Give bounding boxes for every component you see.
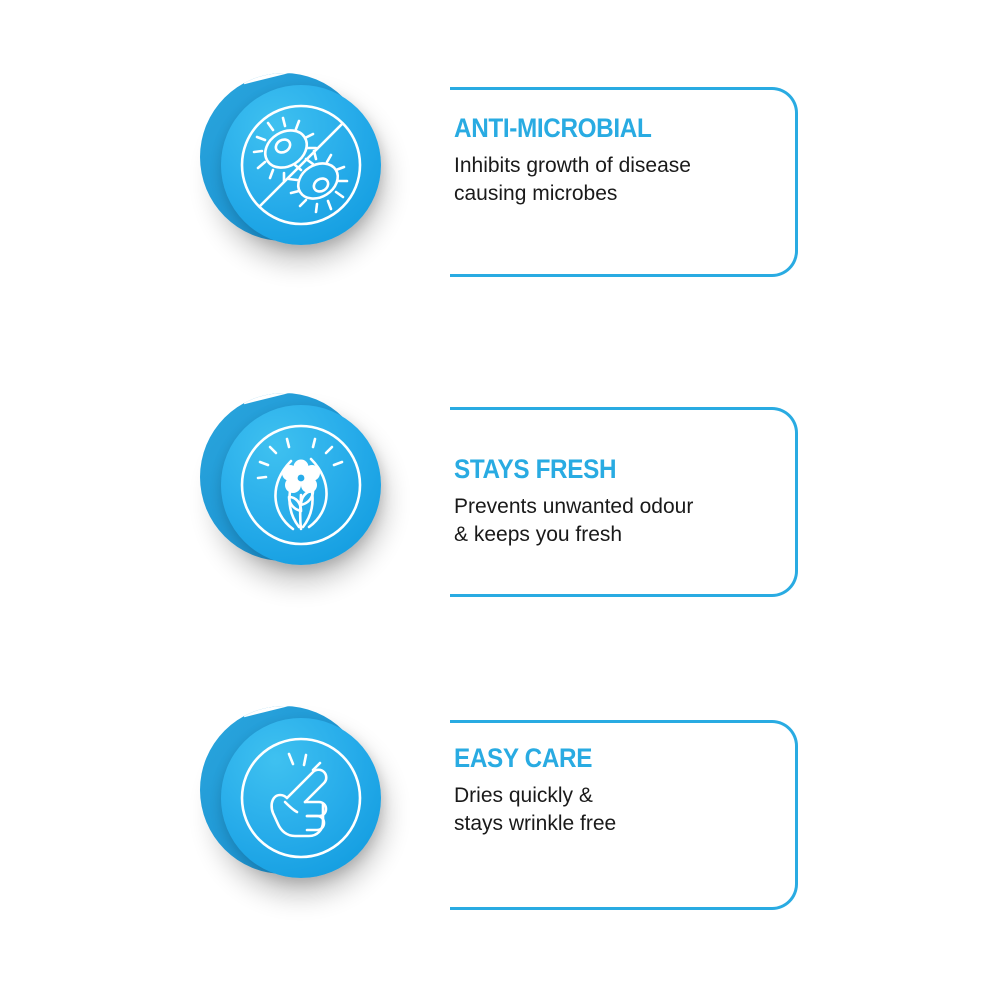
feature-title: ANTI-MICROBIAL <box>454 115 751 142</box>
feature-list: ANTI-MICROBIAL Inhibits growth of diseas… <box>0 0 1000 1000</box>
feature-badge <box>196 67 396 267</box>
badge-front-disc <box>221 85 381 245</box>
feature-description: Prevents unwanted odour & keeps you fres… <box>454 493 784 548</box>
feature-row: EASY CARE Dries quickly & stays wrinkle … <box>0 690 1000 940</box>
feature-row: STAYS FRESH Prevents unwanted odour & ke… <box>0 377 1000 627</box>
badge-front-disc <box>221 718 381 878</box>
feature-description: Inhibits growth of disease causing micro… <box>454 152 784 207</box>
feature-card-body: EASY CARE Dries quickly & stays wrinkle … <box>452 723 784 929</box>
feature-card-body: ANTI-MICROBIAL Inhibits growth of diseas… <box>452 90 784 299</box>
feature-card: ANTI-MICROBIAL Inhibits growth of diseas… <box>450 87 798 277</box>
badge-front-disc <box>221 405 381 565</box>
feature-card: EASY CARE Dries quickly & stays wrinkle … <box>450 720 798 910</box>
stays-fresh-icon <box>221 405 381 565</box>
feature-card: STAYS FRESH Prevents unwanted odour & ke… <box>450 407 798 597</box>
feature-title: EASY CARE <box>454 745 751 772</box>
anti-microbial-icon <box>221 85 381 245</box>
feature-card-body: STAYS FRESH Prevents unwanted odour & ke… <box>452 410 784 594</box>
feature-description: Dries quickly & stays wrinkle free <box>454 782 784 837</box>
easy-care-icon <box>221 718 381 878</box>
feature-badge <box>196 387 396 587</box>
feature-title: STAYS FRESH <box>454 456 751 483</box>
feature-row: ANTI-MICROBIAL Inhibits growth of diseas… <box>0 57 1000 307</box>
feature-badge <box>196 700 396 900</box>
